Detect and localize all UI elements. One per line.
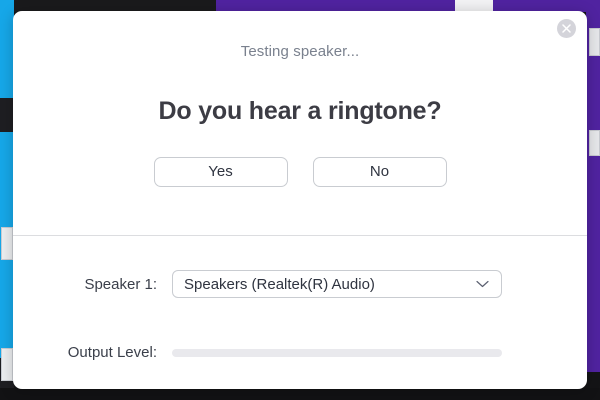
- answer-buttons: Yes No: [13, 157, 587, 187]
- speaker-select[interactable]: Speakers (Realtek(R) Audio): [172, 270, 502, 298]
- output-level-meter: [172, 349, 502, 357]
- screen: Testing speaker... Do you hear a rington…: [0, 0, 600, 400]
- section-divider: [13, 235, 587, 236]
- background-left-chip-1: [1, 227, 13, 260]
- background-right-chip-1: [589, 28, 600, 56]
- speaker-row: Speaker 1: Speakers (Realtek(R) Audio): [13, 270, 587, 298]
- test-status-text: Testing speaker...: [13, 43, 587, 60]
- background-left-chip-2: [1, 348, 13, 381]
- chevron-down-icon: [476, 275, 489, 293]
- no-button[interactable]: No: [313, 157, 447, 187]
- background-bottom-strip: [0, 388, 600, 400]
- close-icon[interactable]: [557, 19, 576, 38]
- background-tab-chip: [455, 0, 493, 11]
- output-level-row: Output Level:: [13, 344, 587, 361]
- dialog-question: Do you hear a ringtone?: [13, 97, 587, 126]
- speaker-select-value: Speakers (Realtek(R) Audio): [173, 276, 375, 293]
- speaker-label: Speaker 1:: [13, 276, 172, 293]
- background-right-chip-2: [589, 130, 600, 156]
- output-level-label: Output Level:: [13, 344, 172, 361]
- background-left-rail-segment-1: [0, 98, 14, 132]
- yes-button[interactable]: Yes: [154, 157, 288, 187]
- speaker-test-dialog: Testing speaker... Do you hear a rington…: [13, 11, 587, 389]
- background-left-rail: [0, 0, 14, 389]
